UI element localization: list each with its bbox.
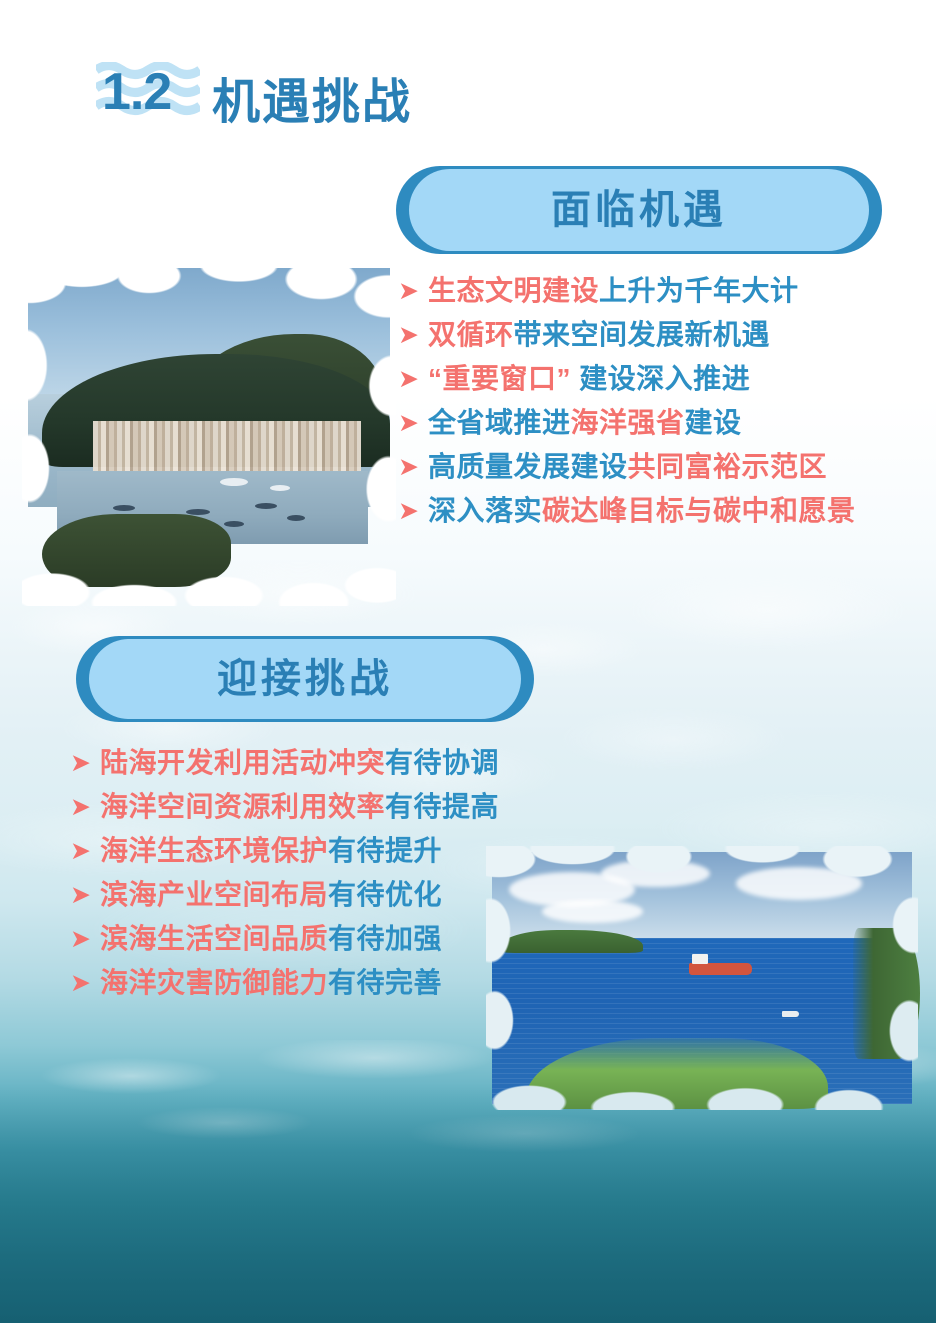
normal-text: 全省域推进 <box>428 407 571 438</box>
normal-text-2: 建设 <box>685 407 742 438</box>
list-item-text: 全省域推进海洋强省建设 <box>428 406 742 439</box>
challenges-badge-label: 迎接挑战 <box>217 659 393 699</box>
ship-superstructure <box>692 954 709 964</box>
opportunities-list: ➤ 生态文明建设上升为千年大计 ➤ 双循环带来空间发展新机遇 ➤ “重要窗口” … <box>398 274 928 538</box>
normal-text: 带来空间发展新机遇 <box>514 319 771 350</box>
right-island <box>853 928 920 1059</box>
highlight-text: 海洋生态环境保护 <box>100 835 328 866</box>
section-heading: 1.2 机遇挑战 <box>96 58 412 130</box>
foreground-greenery <box>42 514 230 587</box>
highlight-text: 海洋灾害防御能力 <box>100 967 328 998</box>
cloud <box>736 867 862 900</box>
list-item-text: 海洋灾害防御能力有待完善 <box>100 966 442 999</box>
chevron-arrow-bullet-icon: ➤ <box>398 411 428 436</box>
badge-inner-face: 面临机遇 <box>409 169 869 251</box>
challenges-list: ➤ 陆海开发利用活动冲突有待协调 ➤ 海洋空间资源利用效率有待提高 ➤ 海洋生态… <box>70 746 570 1010</box>
normal-text: 有待优化 <box>328 879 442 910</box>
list-item: ➤ 陆海开发利用活动冲突有待协调 <box>70 746 570 779</box>
deep-water-shading <box>0 1083 936 1323</box>
highlight-text: 滨海产业空间布局 <box>100 879 328 910</box>
normal-text: 建设深入推进 <box>571 363 750 394</box>
opportunities-badge: 面临机遇 <box>396 166 882 254</box>
list-item-text: 陆海开发利用活动冲突有待协调 <box>100 746 499 779</box>
list-item-text: 双循环带来空间发展新机遇 <box>428 318 770 351</box>
chevron-arrow-bullet-icon: ➤ <box>70 927 100 952</box>
coastal-town-scene <box>28 268 390 600</box>
list-item: ➤ 海洋生态环境保护有待提升 <box>70 834 570 867</box>
list-item: ➤ 深入落实碳达峰目标与碳中和愿景 <box>398 494 928 527</box>
small-boat <box>782 1011 799 1018</box>
chevron-arrow-bullet-icon: ➤ <box>70 795 100 820</box>
highlight-text: 滨海生活空间品质 <box>100 923 328 954</box>
section-number: 1.2 <box>102 66 171 118</box>
highlight-text: 共同富裕示范区 <box>628 451 828 482</box>
list-item-text: 海洋生态环境保护有待提升 <box>100 834 442 867</box>
list-item-text: 滨海产业空间布局有待优化 <box>100 878 442 911</box>
badge-inner-face: 迎接挑战 <box>89 639 521 719</box>
normal-text: 深入落实 <box>428 495 542 526</box>
cargo-ship <box>689 963 752 976</box>
chevron-arrow-bullet-icon: ➤ <box>70 839 100 864</box>
normal-text: 有待加强 <box>328 923 442 954</box>
normal-text: 上升为千年大计 <box>599 275 799 306</box>
chevron-arrow-bullet-icon: ➤ <box>398 323 428 348</box>
list-item: ➤ 滨海生活空间品质有待加强 <box>70 922 570 955</box>
chevron-arrow-bullet-icon: ➤ <box>70 971 100 996</box>
cloud <box>601 860 710 888</box>
normal-text: 有待完善 <box>328 967 442 998</box>
highlight-text: 陆海开发利用活动冲突 <box>100 747 385 778</box>
list-item: ➤ 滨海产业空间布局有待优化 <box>70 878 570 911</box>
list-item-text: 生态文明建设上升为千年大计 <box>428 274 799 307</box>
list-item-text: 高质量发展建设共同富裕示范区 <box>428 450 827 483</box>
highlight-text: 生态文明建设 <box>428 275 599 306</box>
list-item: ➤ 全省域推进海洋强省建设 <box>398 406 928 439</box>
normal-text: 有待提升 <box>328 835 442 866</box>
section-number-badge: 1.2 <box>96 58 200 130</box>
list-item: ➤ 海洋空间资源利用效率有待提高 <box>70 790 570 823</box>
page-title: 机遇挑战 <box>212 79 412 127</box>
list-item-text: 滨海生活空间品质有待加强 <box>100 922 442 955</box>
highlight-text: 碳达峰目标与碳中和愿景 <box>542 495 856 526</box>
chevron-arrow-bullet-icon: ➤ <box>398 279 428 304</box>
list-item-text: 深入落实碳达峰目标与碳中和愿景 <box>428 494 856 527</box>
chevron-arrow-bullet-icon: ➤ <box>398 499 428 524</box>
highlight-text: 海洋空间资源利用效率 <box>100 791 385 822</box>
normal-text: 有待协调 <box>385 747 499 778</box>
chevron-arrow-bullet-icon: ➤ <box>70 883 100 908</box>
coastal-town-map-photo <box>28 268 390 600</box>
list-item: ➤ 双循环带来空间发展新机遇 <box>398 318 928 351</box>
opportunities-badge-label: 面临机遇 <box>551 190 727 230</box>
chevron-arrow-bullet-icon: ➤ <box>70 751 100 776</box>
normal-text: 有待提高 <box>385 791 499 822</box>
highlight-text: 双循环 <box>428 319 514 350</box>
list-item: ➤ 高质量发展建设共同富裕示范区 <box>398 450 928 483</box>
challenges-badge: 迎接挑战 <box>76 636 534 722</box>
list-item: ➤ “重要窗口” 建设深入推进 <box>398 362 928 395</box>
list-item: ➤ 生态文明建设上升为千年大计 <box>398 274 928 307</box>
chevron-arrow-bullet-icon: ➤ <box>398 367 428 392</box>
chevron-arrow-bullet-icon: ➤ <box>398 455 428 480</box>
normal-text: 高质量发展建设 <box>428 451 628 482</box>
list-item-text: “重要窗口” 建设深入推进 <box>428 362 750 395</box>
highlight-text: 海洋强省 <box>571 407 685 438</box>
list-item-text: 海洋空间资源利用效率有待提高 <box>100 790 499 823</box>
highlight-text: “重要窗口” <box>428 363 571 394</box>
list-item: ➤ 海洋灾害防御能力有待完善 <box>70 966 570 999</box>
